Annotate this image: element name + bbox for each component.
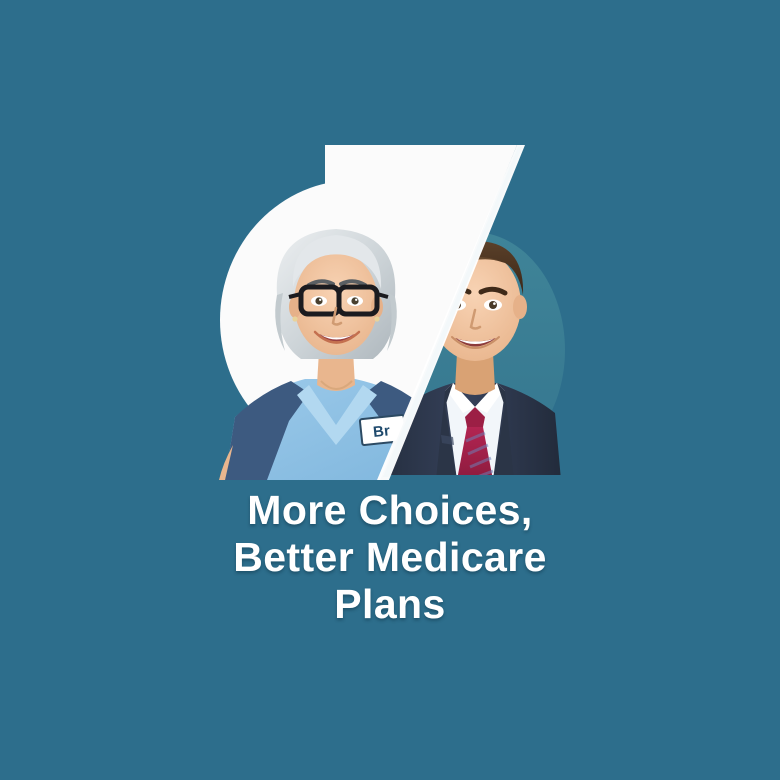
nurse-head	[275, 229, 397, 359]
headline-line-1: More Choices,	[0, 487, 780, 534]
artwork-svg: Br	[205, 145, 565, 480]
headline-line-3: Plans	[0, 581, 780, 628]
split-portrait-artwork: Br	[205, 145, 565, 480]
headline-line-2: Better Medicare	[0, 534, 780, 581]
nurse-badge-text: Br	[372, 422, 391, 441]
promo-canvas: Br	[0, 0, 780, 780]
headline: More Choices, Better Medicare Plans	[0, 487, 780, 628]
